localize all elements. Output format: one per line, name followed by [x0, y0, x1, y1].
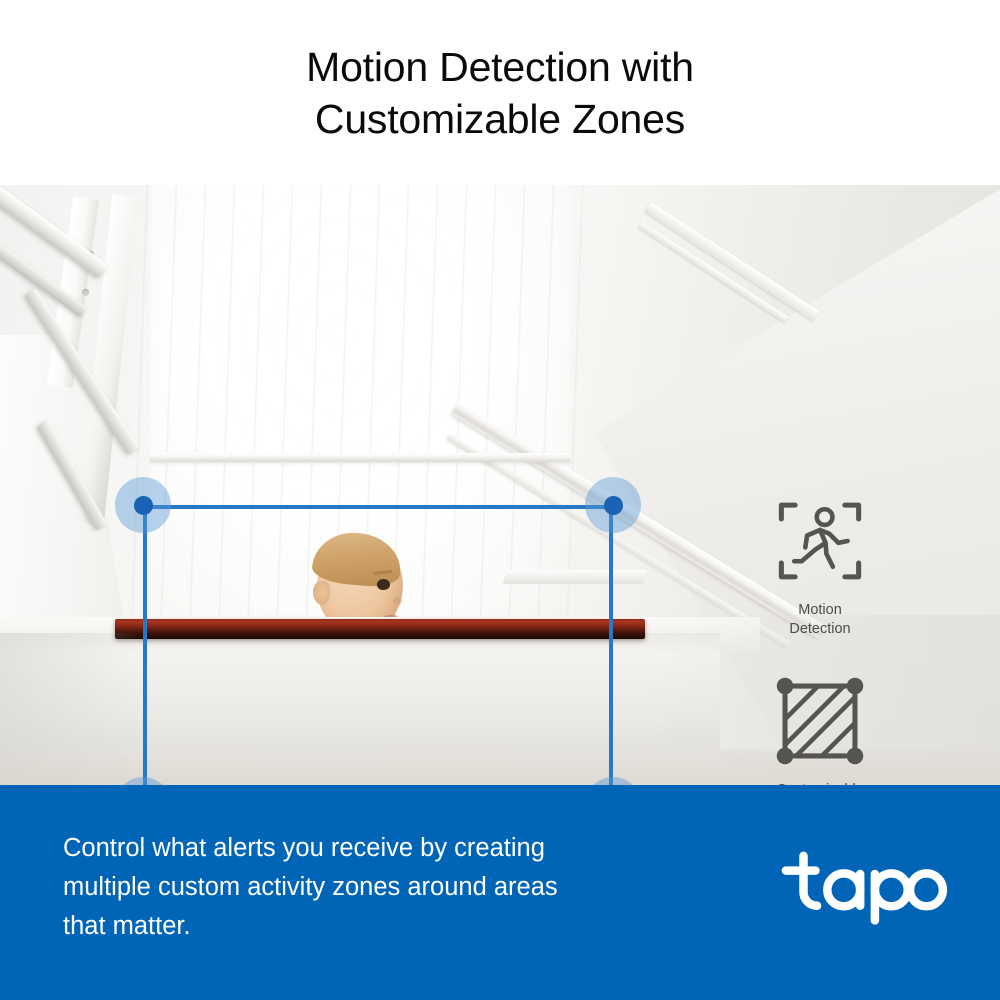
- page-title: Motion Detection with Customizable Zones: [306, 41, 694, 145]
- customizable-activity-zones-icon: [774, 675, 866, 767]
- page-title-line-2: Customizable Zones: [306, 93, 694, 145]
- promo-page: Motion Detection with Customizable Zones: [0, 0, 1000, 1000]
- stair-shadow-left: [0, 633, 140, 785]
- footer-line-1: Control what alerts you receive by creat…: [63, 829, 683, 868]
- feature-motion-detection-label: Motion Detection: [730, 601, 910, 639]
- page-title-line-1: Motion Detection with: [306, 44, 694, 90]
- footer-line-2: multiple custom activity zones around ar…: [63, 868, 683, 907]
- feature-customizable-zones: Customizable Activity Zones: [730, 675, 910, 785]
- feature-label-line-2: Detection: [730, 620, 910, 639]
- footer-line-3: that matter.: [63, 907, 683, 946]
- motion-detection-icon: [774, 495, 866, 587]
- footer-description: Control what alerts you receive by creat…: [63, 829, 683, 946]
- tapo-logo: [778, 847, 948, 927]
- feature-label-line-1: Motion: [730, 601, 910, 620]
- feature-list: Motion Detection: [730, 370, 910, 785]
- activity-zone-rectangle[interactable]: [143, 505, 613, 785]
- footer-band: Control what alerts you receive by creat…: [0, 785, 1000, 1000]
- header: Motion Detection with Customizable Zones: [0, 0, 1000, 185]
- wall-chair-rail: [150, 453, 570, 462]
- camera-view-photo: Motion Detection: [0, 185, 1000, 785]
- zone-handle-top-left[interactable]: [115, 477, 171, 533]
- post-screw-hole: [82, 289, 89, 296]
- feature-motion-detection: Motion Detection: [730, 495, 910, 639]
- zone-handle-top-right[interactable]: [585, 477, 641, 533]
